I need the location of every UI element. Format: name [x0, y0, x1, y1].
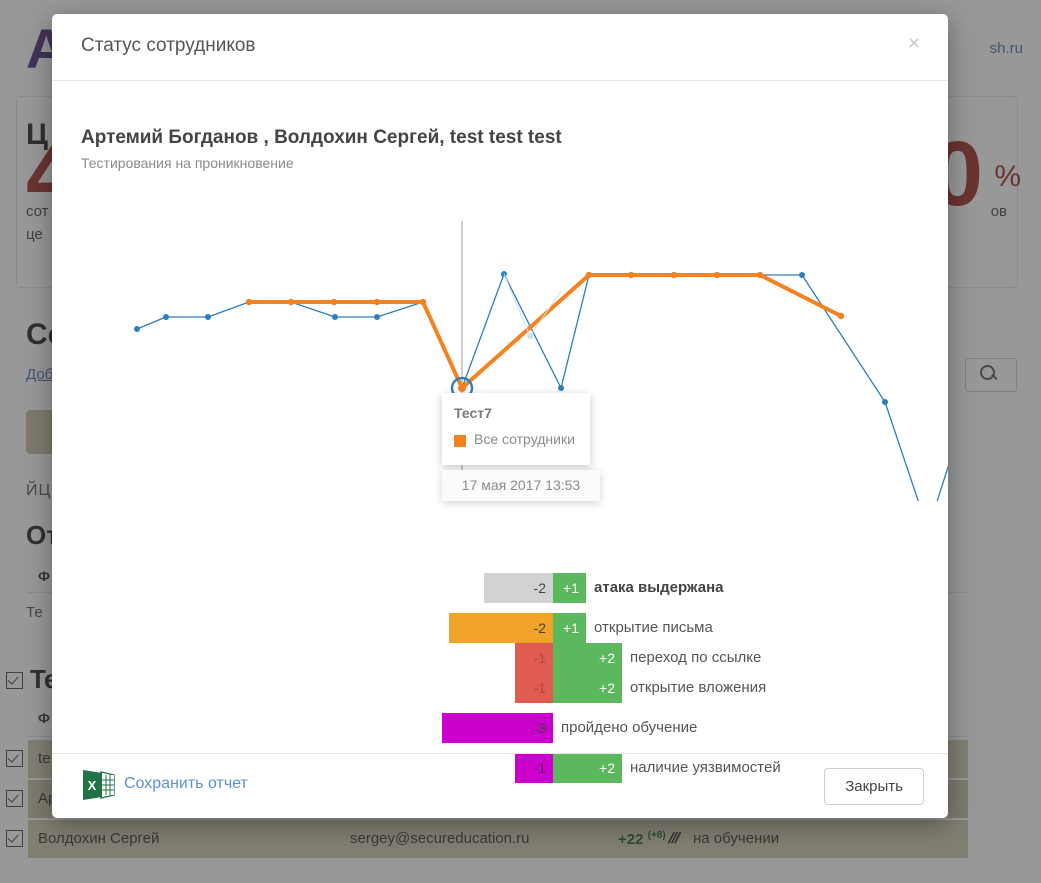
timeline-chart[interactable]: Тест7 Все сотрудники 17 мая 2017 13:53	[52, 181, 948, 501]
score-negative-segment: -2	[449, 613, 553, 643]
chart-tooltip: Тест7 Все сотрудники	[442, 393, 590, 465]
modal-title: Статус сотрудников	[81, 35, 256, 57]
tooltip-date: 17 мая 2017 13:53	[442, 470, 600, 501]
legend-swatch-icon	[454, 435, 466, 447]
modal-footer: X Сохранить отчет Закрыть	[52, 753, 948, 818]
score-positive-segment: +2	[553, 673, 622, 703]
score-bar-row: -2+1открытие письма	[52, 613, 948, 643]
chart-subtitle: Тестирования на проникновение	[81, 155, 294, 171]
score-positive-segment: +1	[553, 613, 586, 643]
score-bar-label: атака выдержана	[594, 573, 723, 603]
tooltip-series-label: Все сотрудники	[474, 431, 575, 447]
score-positive-segment: +2	[553, 643, 622, 673]
score-positive-segment: +1	[553, 573, 586, 603]
score-bar-label: открытие вложения	[630, 673, 766, 703]
score-bar-row: -1+2переход по ссылке	[52, 643, 948, 673]
close-button[interactable]: Закрыть	[824, 768, 924, 805]
score-negative-segment: -1	[515, 673, 553, 703]
save-report-link[interactable]: Сохранить отчет	[124, 775, 248, 793]
modal-body: Артемий Богданов , Волдохин Сергей, test…	[52, 81, 948, 753]
score-negative-segment: -2	[484, 573, 553, 603]
employee-status-modal: Статус сотрудников × Артемий Богданов , …	[52, 14, 948, 818]
svg-text:X: X	[88, 778, 97, 793]
score-negative-segment: -3	[442, 713, 553, 743]
score-bar-label: открытие письма	[594, 613, 713, 643]
score-bar-row: -2+1атака выдержана	[52, 573, 948, 603]
score-negative-segment: -1	[515, 643, 553, 673]
score-bar-label: переход по ссылке	[630, 643, 761, 673]
score-bar-row: -1+2открытие вложения	[52, 673, 948, 703]
modal-header: Статус сотрудников ×	[52, 14, 948, 81]
chart-title: Артемий Богданов , Волдохин Сергей, test…	[81, 127, 562, 149]
score-bar-row: -3пройдено обучение	[52, 713, 948, 743]
tooltip-title: Тест7	[454, 405, 492, 421]
score-bar-label: пройдено обучение	[561, 713, 697, 743]
excel-icon: X	[81, 768, 115, 802]
close-icon[interactable]: ×	[902, 32, 926, 56]
